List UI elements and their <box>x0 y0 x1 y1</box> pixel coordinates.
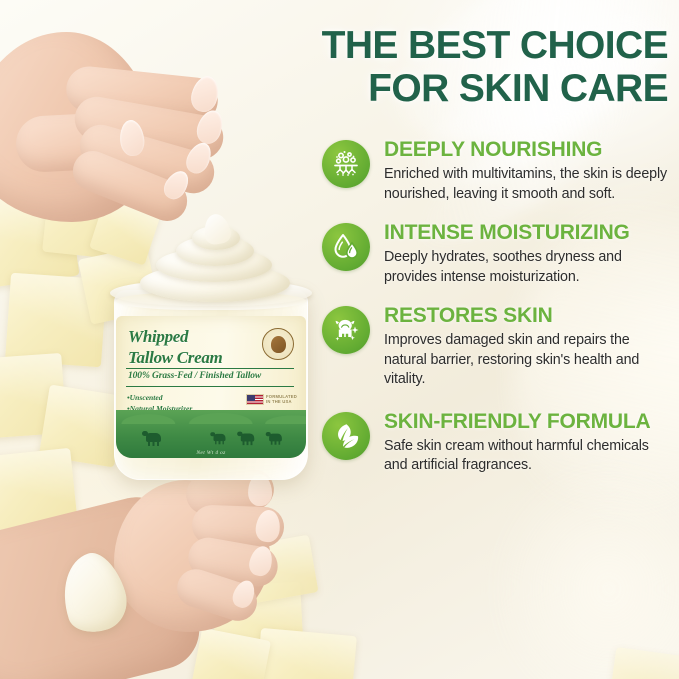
headline-line1: THE BEST CHOICE <box>322 24 668 67</box>
feature-item-deeply-nourishing: DEEPLY NOURISHING Enriched with multivit… <box>322 138 670 204</box>
cow-silhouette <box>269 434 282 442</box>
leaves-icon <box>322 412 370 460</box>
feature-description: Improves damaged skin and repairs the na… <box>384 331 670 390</box>
net-weight: Net Wt 4 oz <box>116 450 306 456</box>
cow-silhouette <box>146 433 161 442</box>
pasture-illustration: Net Wt 4 oz <box>116 410 306 458</box>
product-label: Whipped Tallow Cream 100% Grass-Fed / Fi… <box>116 316 306 458</box>
headline-line2: FOR SKIN CARE <box>368 67 668 110</box>
product-marketing-image: Whipped Tallow Cream 100% Grass-Fed / Fi… <box>0 0 679 679</box>
product-jar: Whipped Tallow Cream 100% Grass-Fed / Fi… <box>106 238 316 483</box>
feature-title: DEEPLY NOURISHING <box>384 138 670 161</box>
whipped-cream-swirl <box>134 234 290 302</box>
feature-title: INTENSE MOISTURIZING <box>384 221 670 244</box>
feature-title: RESTORES SKIN <box>384 304 670 327</box>
page-title: THE BEST CHOICE FOR SKIN CARE <box>276 24 668 110</box>
hand-with-cream-swatch <box>0 470 290 679</box>
label-divider <box>126 368 294 369</box>
feature-description: Enriched with multivitamins, the skin is… <box>384 165 670 204</box>
feature-item-restores-skin: RESTORES SKIN Improves damaged skin and … <box>322 304 670 390</box>
water-droplets-icon <box>322 223 370 271</box>
feature-description: Deeply hydrates, soothes dryness and pro… <box>384 248 670 287</box>
cow-silhouette <box>241 433 255 441</box>
cow-sparkle-icon <box>322 306 370 354</box>
feature-item-intense-moisturizing: INTENSE MOISTURIZING Deeply hydrates, so… <box>322 221 670 287</box>
pores-absorption-icon <box>322 140 370 188</box>
cow-badge-icon <box>262 328 294 360</box>
feature-description: Safe skin cream without harmful chemical… <box>384 437 670 476</box>
feature-list: DEEPLY NOURISHING Enriched with multivit… <box>322 138 670 494</box>
product-claim: 100% Grass-Fed / Finished Tallow <box>128 371 298 381</box>
product-name: Whipped Tallow Cream <box>128 326 268 368</box>
feature-item-skin-friendly-formula: SKIN-FRIENDLY FORMULA Safe skin cream wi… <box>322 410 670 476</box>
label-divider <box>126 386 294 387</box>
product-name-line1: Whipped <box>128 327 188 346</box>
feature-title: SKIN-FRIENDLY FORMULA <box>384 410 670 433</box>
product-name-line2: Tallow Cream <box>128 348 222 367</box>
cow-silhouette <box>214 434 226 441</box>
